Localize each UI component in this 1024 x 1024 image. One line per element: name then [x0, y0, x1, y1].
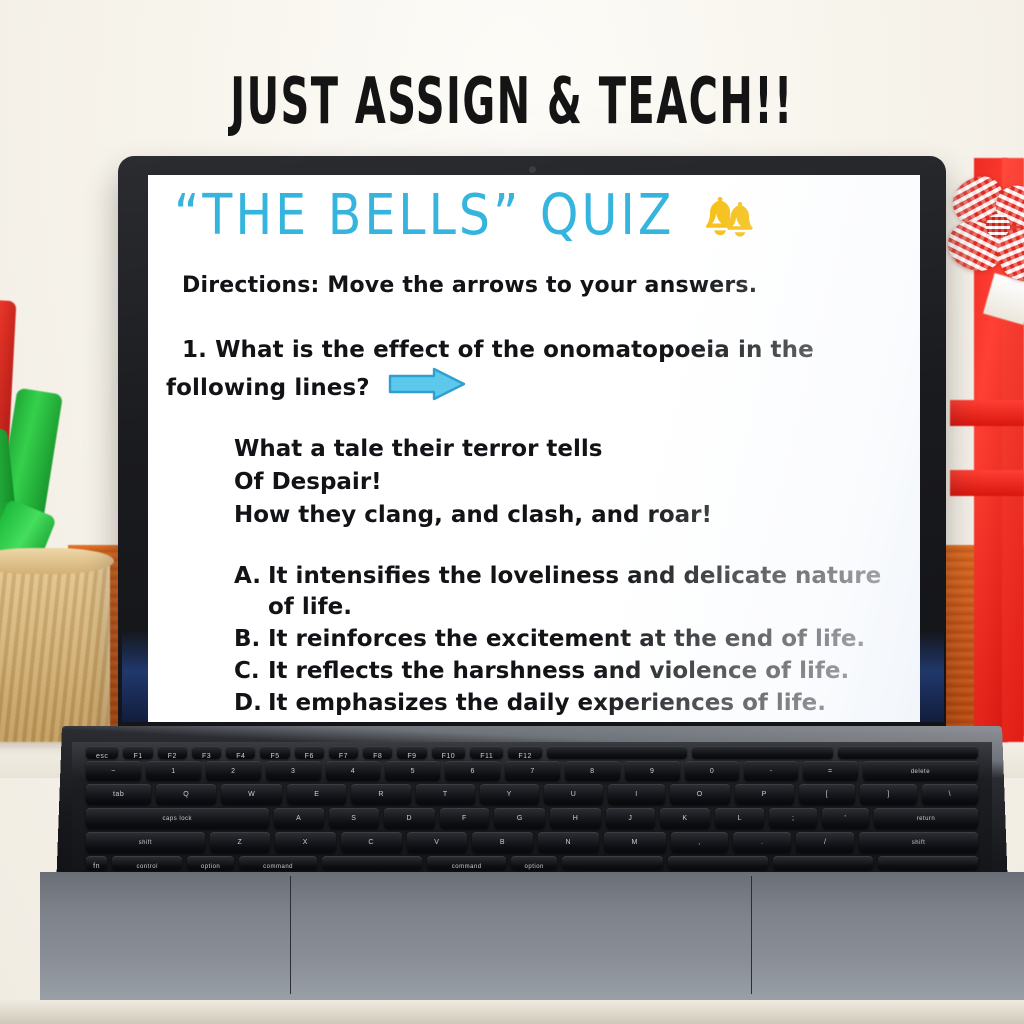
key-caps-lock[interactable]: caps lock [86, 808, 269, 829]
key-x[interactable]: X [275, 832, 336, 853]
question-line-1: What is the effect of the onomatopoeia i… [215, 337, 814, 363]
bells-icon [698, 188, 762, 244]
key-i[interactable]: I [608, 784, 664, 805]
key-[[interactable]: [ [799, 784, 855, 805]
choice-text: It intensifies the loveliness and delica… [268, 561, 894, 623]
key-l[interactable]: L [715, 808, 764, 829]
key-7[interactable]: 7 [505, 761, 560, 781]
key-6[interactable]: 6 [445, 761, 500, 781]
key-space[interactable] [562, 856, 662, 870]
key-space[interactable] [547, 746, 687, 759]
key-\[interactable]: \ [922, 784, 978, 805]
key-f8[interactable]: F8 [363, 746, 392, 759]
key-4[interactable]: 4 [326, 761, 381, 781]
key-f7[interactable]: F7 [329, 746, 358, 759]
basket-rim [0, 548, 114, 574]
key-;[interactable]: ; [769, 808, 816, 829]
keyboard-deck[interactable]: escF1F2F3F4F5F6F7F8F9F10F11F12 ~12345678… [72, 742, 992, 870]
key-space[interactable] [668, 856, 768, 870]
webcam-icon [529, 166, 536, 173]
key-shift[interactable]: shift [86, 832, 205, 853]
key-space[interactable] [692, 746, 832, 759]
red-ornament-crossbar [950, 400, 1024, 426]
key-0[interactable]: 0 [685, 761, 740, 781]
gingham-bow-knot [986, 214, 1010, 238]
poem-excerpt: What a tale their terror tells Of Despai… [234, 433, 712, 532]
right-arrow-icon[interactable] [388, 367, 466, 401]
poem-line: What a tale their terror tells [234, 433, 712, 466]
poem-line: Of Despair! [234, 466, 712, 499]
question-line-2: following lines? [166, 375, 370, 401]
screenshot-stage: JUST ASSIGN & TEACH!! “THE BELLS” QUIZ [0, 0, 1024, 1024]
key-p[interactable]: P [735, 784, 794, 805]
key-3[interactable]: 3 [266, 761, 321, 781]
key-return[interactable]: return [874, 808, 978, 829]
choice-letter: A. [234, 561, 258, 623]
key-shift[interactable]: shift [859, 832, 978, 853]
key-control[interactable]: control [112, 856, 182, 870]
choice-text: It reflects the harshness and violence o… [268, 656, 894, 687]
key-command[interactable]: command [239, 856, 317, 870]
key-n[interactable]: N [538, 832, 599, 853]
wicker-basket [0, 556, 110, 742]
key-e[interactable]: E [287, 784, 346, 805]
key-z[interactable]: Z [210, 832, 270, 853]
laptop-trackpad[interactable] [290, 876, 752, 994]
key-1[interactable]: 1 [146, 761, 201, 781]
poem-line: How they clang, and clash, and roar! [234, 499, 712, 532]
choice-text: It reinforces the excitement at the end … [268, 624, 894, 655]
key-o[interactable]: O [670, 784, 730, 805]
key-esc[interactable]: esc [86, 746, 118, 759]
key-space[interactable] [838, 746, 978, 759]
key-tab[interactable]: tab [86, 784, 151, 805]
key-f2[interactable]: F2 [158, 746, 187, 759]
answer-choice[interactable]: C. It reflects the harshness and violenc… [234, 656, 894, 687]
key-f6[interactable]: F6 [295, 746, 324, 759]
key-f12[interactable]: F12 [508, 746, 542, 759]
headline-text: JUST ASSIGN & TEACH!! [133, 67, 891, 138]
key-2[interactable]: 2 [206, 761, 261, 781]
key-t[interactable]: T [416, 784, 475, 805]
key-'[interactable]: ' [822, 808, 869, 829]
question-number: 1. [182, 337, 207, 363]
directions-text: Directions: Move the arrows to your answ… [182, 271, 757, 301]
key--[interactable]: - [744, 761, 797, 781]
laptop-screen: “THE BELLS” QUIZ Directions: Move the ar… [148, 175, 920, 722]
key-space[interactable] [322, 856, 422, 870]
answer-choice[interactable]: B. It reinforces the excitement at the e… [234, 624, 894, 655]
key-f1[interactable]: F1 [123, 746, 152, 759]
answer-choice[interactable]: D. It emphasizes the daily experiences o… [234, 688, 894, 719]
slide-title-row: “THE BELLS” QUIZ [174, 187, 904, 245]
key-k[interactable]: K [660, 808, 710, 829]
quiz-slide: “THE BELLS” QUIZ Directions: Move the ar… [148, 175, 920, 722]
key-b[interactable]: B [472, 832, 533, 853]
key-command[interactable]: command [427, 856, 505, 870]
key-h[interactable]: H [550, 808, 601, 829]
key-f4[interactable]: F4 [226, 746, 255, 759]
key-a[interactable]: A [274, 808, 324, 829]
choice-text: It emphasizes the daily experiences of l… [268, 688, 894, 719]
key-5[interactable]: 5 [385, 761, 440, 781]
key-fn[interactable]: fn [86, 856, 107, 870]
slide-title: “THE BELLS” QUIZ [174, 183, 674, 249]
key-delete[interactable]: delete [863, 761, 978, 781]
bezel-reflection [920, 630, 944, 722]
key-r[interactable]: R [351, 784, 411, 805]
key-~[interactable]: ~ [86, 761, 141, 781]
key-f[interactable]: F [440, 808, 490, 829]
key-option[interactable]: option [187, 856, 234, 870]
answer-choices: A. It intensifies the loveliness and del… [234, 561, 894, 720]
key-f9[interactable]: F9 [397, 746, 426, 759]
key-f10[interactable]: F10 [432, 746, 466, 759]
desk-surface [0, 1000, 1024, 1024]
key-w[interactable]: W [221, 784, 282, 805]
choice-letter: B. [234, 624, 258, 655]
key-y[interactable]: Y [480, 784, 539, 805]
question-block: 1. What is the effect of the onomatopoei… [166, 333, 866, 405]
key-8[interactable]: 8 [565, 761, 620, 781]
key-.[interactable]: . [733, 832, 791, 853]
key-option[interactable]: option [511, 856, 558, 870]
choice-letter: D. [234, 688, 258, 719]
key-,[interactable]: , [671, 832, 729, 853]
key-f5[interactable]: F5 [260, 746, 289, 759]
red-ornament-crossbar [950, 470, 1024, 496]
answer-choice[interactable]: A. It intensifies the loveliness and del… [234, 561, 894, 623]
key-/[interactable]: / [796, 832, 854, 853]
key-s[interactable]: S [329, 808, 379, 829]
choice-letter: C. [234, 656, 258, 687]
key-v[interactable]: V [407, 832, 468, 853]
key-c[interactable]: C [341, 832, 402, 853]
key-space[interactable] [773, 856, 873, 870]
key-q[interactable]: Q [156, 784, 216, 805]
key-space[interactable] [878, 856, 978, 870]
key-j[interactable]: J [606, 808, 655, 829]
key-g[interactable]: G [494, 808, 545, 829]
key-u[interactable]: U [544, 784, 604, 805]
key-=[interactable]: = [803, 761, 858, 781]
key-][interactable]: ] [860, 784, 916, 805]
key-f3[interactable]: F3 [192, 746, 221, 759]
key-d[interactable]: D [384, 808, 435, 829]
bezel-reflection [122, 630, 148, 722]
key-f11[interactable]: F11 [470, 746, 503, 759]
key-9[interactable]: 9 [625, 761, 680, 781]
key-m[interactable]: M [604, 832, 666, 853]
